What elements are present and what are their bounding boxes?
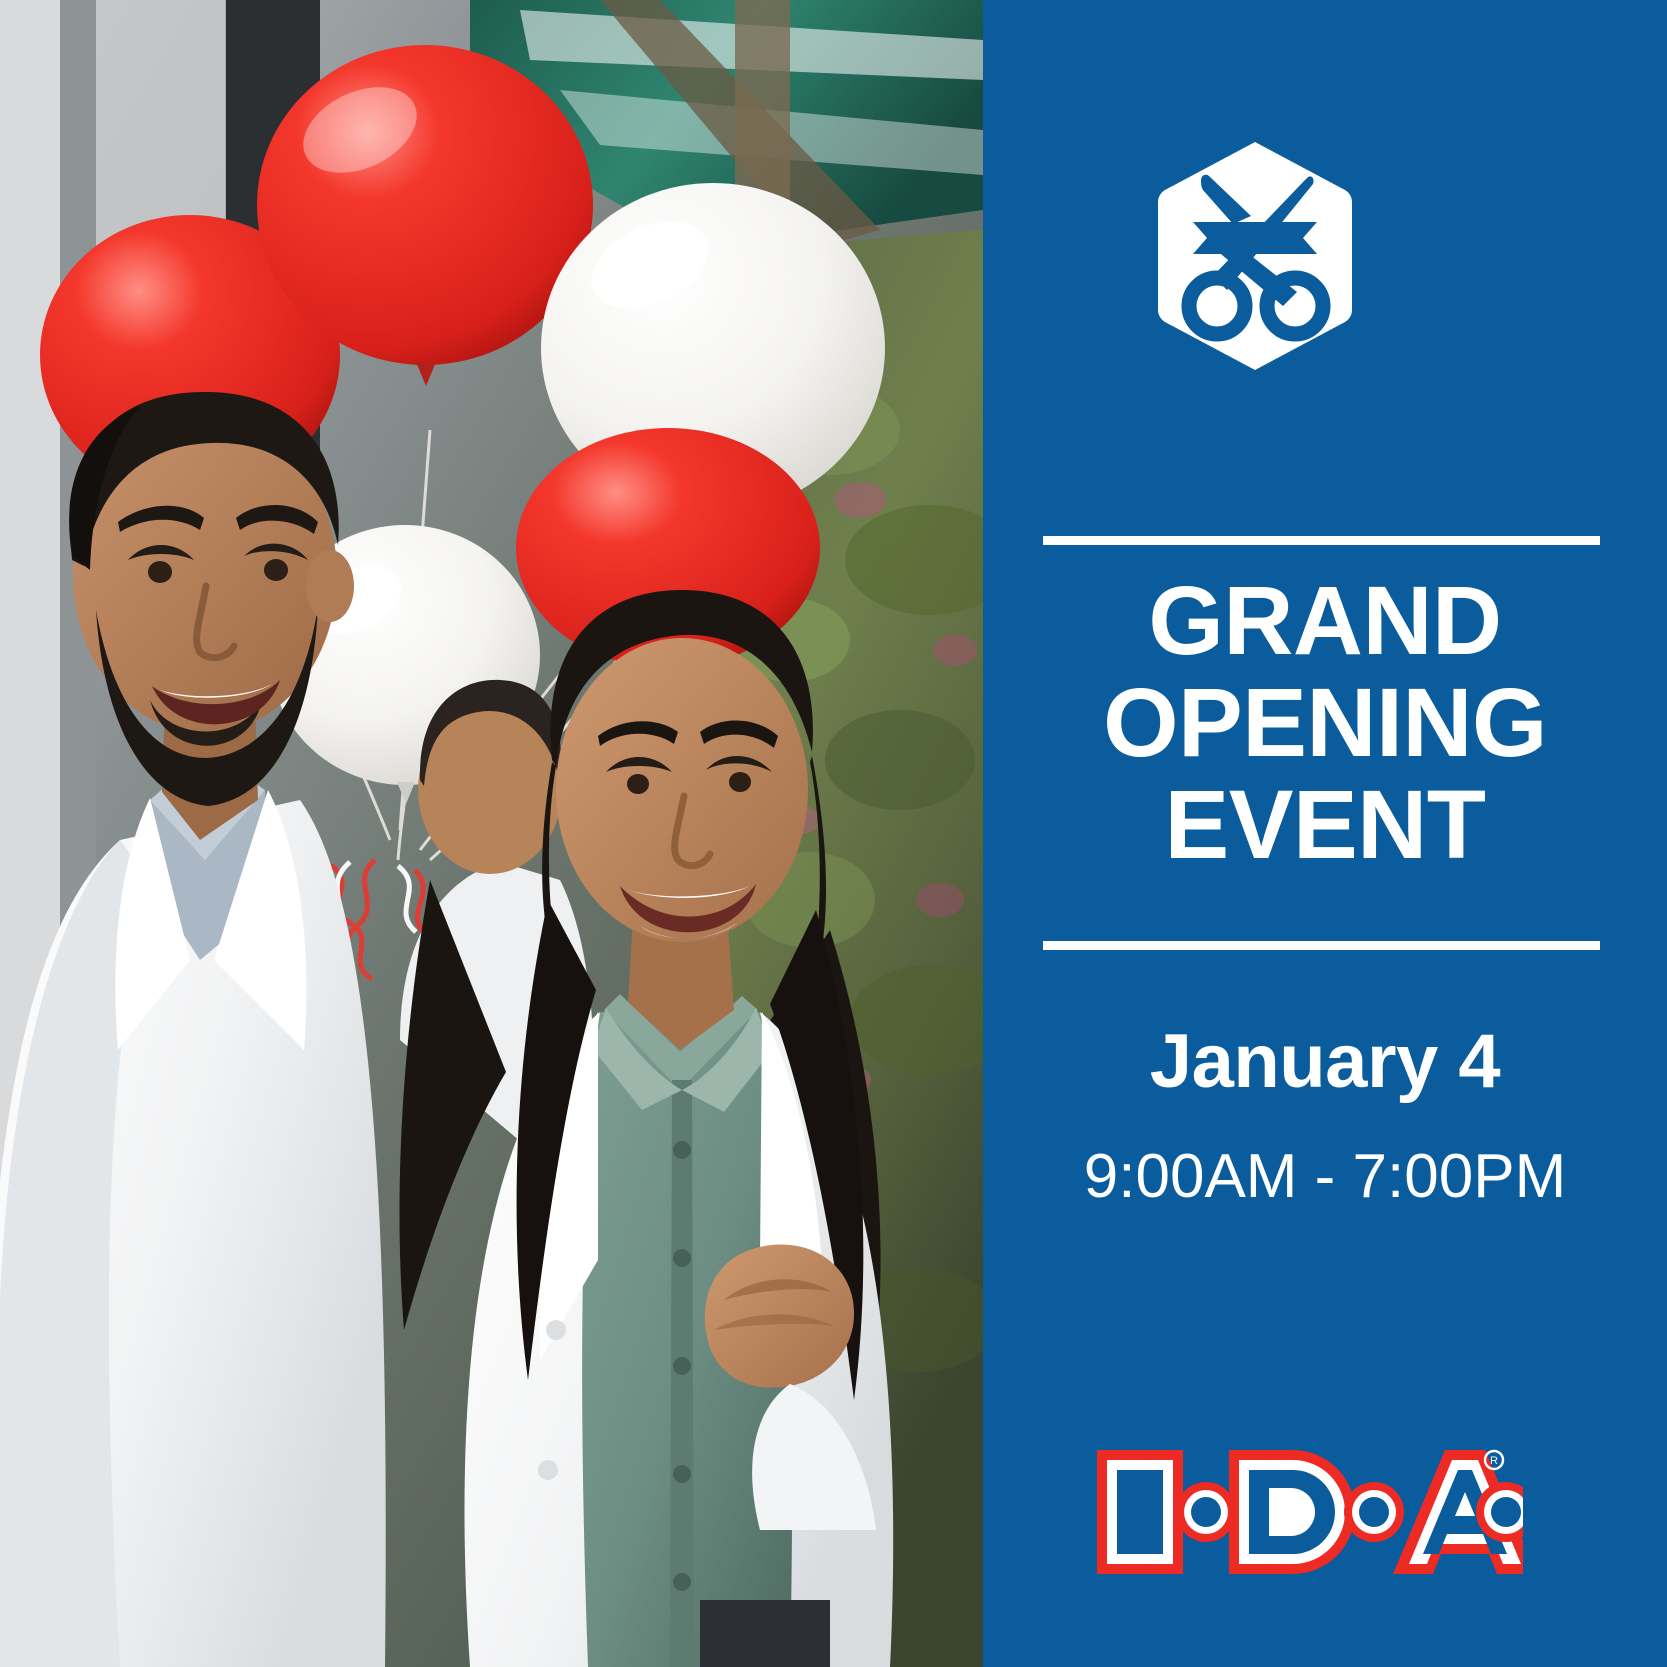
page-title: GRAND OPENING EVENT [983,570,1667,876]
svg-text:R: R [1490,1455,1498,1467]
event-info-panel: GRAND OPENING EVENT January 4 9:00AM - 7… [983,0,1667,1667]
headline-line-1: GRAND [983,570,1667,672]
event-date: January 4 [983,1024,1667,1100]
headline-line-3: EVENT [983,774,1667,876]
pharmacy-team-photo [0,0,983,1667]
grand-opening-poster: GRAND OPENING EVENT January 4 9:00AM - 7… [0,0,1667,1667]
ribbon-cutting-scissors-hexagon-icon [1155,140,1355,372]
divider-bottom [1043,941,1600,950]
divider-top [1043,536,1600,545]
ida-logo: R [1093,1442,1523,1582]
event-time: 9:00AM - 7:00PM [983,1146,1667,1208]
headline-line-2: OPENING [983,672,1667,774]
